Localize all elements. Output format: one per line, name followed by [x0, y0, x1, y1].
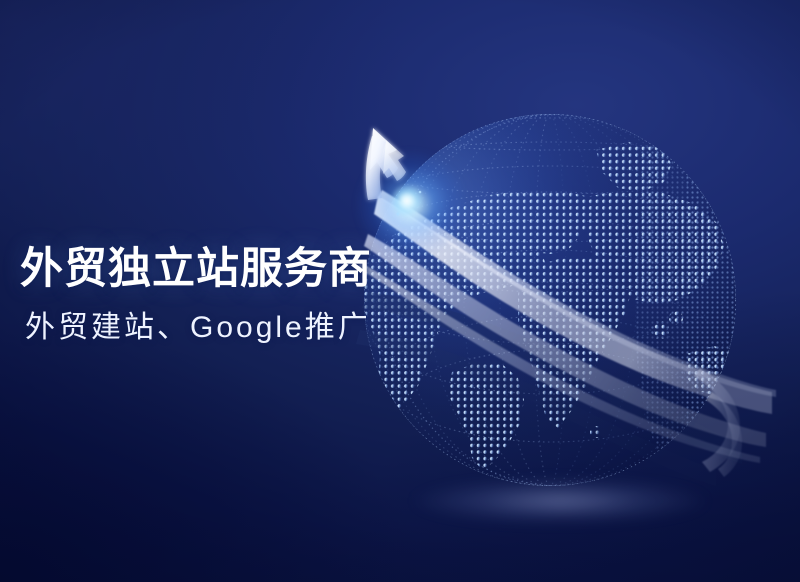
banner-copy: 外贸独立站服务商 外贸建站、Google推广 [20, 246, 390, 345]
hero-banner: 外贸独立站服务商 外贸建站、Google推广 [0, 0, 800, 582]
banner-headline: 外贸独立站服务商 [20, 246, 390, 292]
banner-subheadline: 外贸建站、Google推广 [25, 311, 390, 345]
